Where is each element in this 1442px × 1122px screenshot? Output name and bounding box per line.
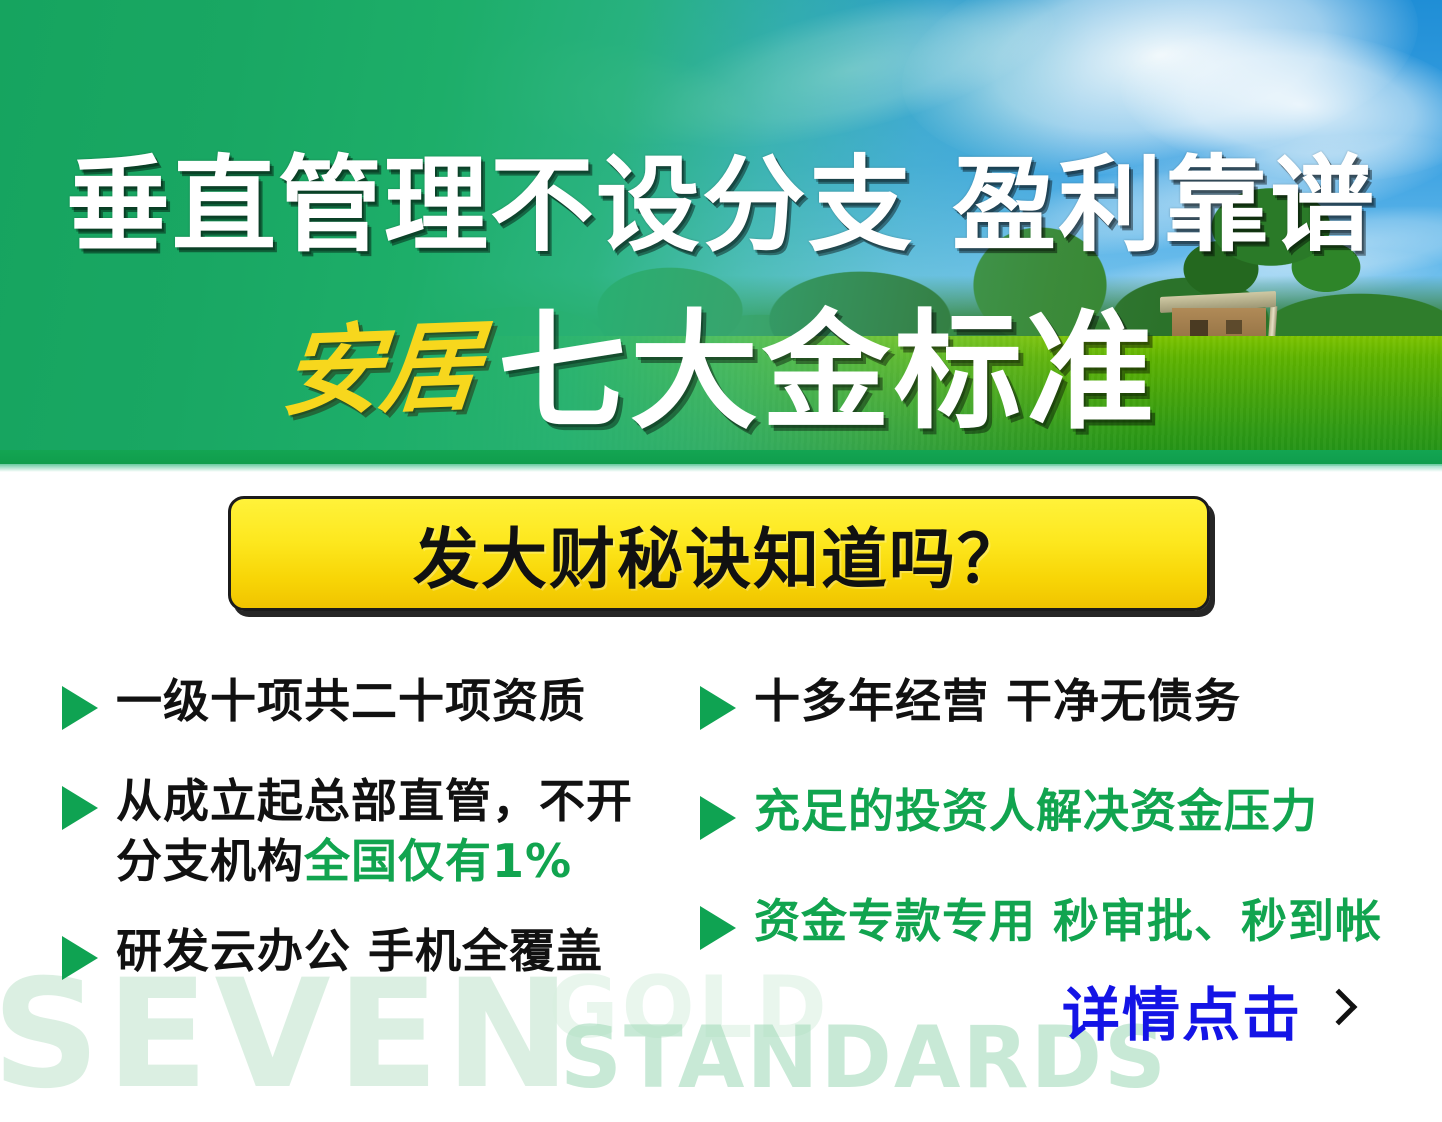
- feature-line-2-row: 分支机构全国仅有1%: [116, 832, 633, 892]
- hero-banner: 垂直管理不设分支 盈利靠谱 安居 七大金标准: [0, 0, 1442, 472]
- feature-text: 从成立起总部直管，不开 分支机构全国仅有1%: [116, 772, 633, 892]
- feature-line-1: 十多年经营 干净无债务: [754, 674, 1241, 728]
- feature-line-2: 分支机构: [116, 834, 304, 888]
- hero-headline-top: 垂直管理不设分支 盈利靠谱: [0, 120, 1442, 271]
- feature-line-1: 从成立起总部直管，不开: [116, 774, 633, 828]
- triangle-bullet-icon: [700, 686, 736, 730]
- hero-bottom-fade: [0, 464, 1442, 472]
- feature-item: 资金专款专用 秒审批、秒到帐: [700, 892, 1382, 952]
- features-section: 一级十项共二十项资质 从成立起总部直管，不开 分支机构全国仅有1% 研发云办公 …: [0, 650, 1442, 1010]
- feature-text: 资金专款专用 秒审批、秒到帐: [754, 892, 1382, 952]
- detail-link[interactable]: 详情点击: [1062, 968, 1352, 1052]
- feature-line-1: 资金专款专用 秒审批、秒到帐: [754, 894, 1382, 948]
- feature-highlight: 全国仅有1%: [304, 834, 572, 888]
- triangle-bullet-icon: [700, 796, 736, 840]
- feature-item: 十多年经营 干净无债务: [700, 672, 1241, 732]
- feature-text: 充足的投资人解决资金压力: [754, 782, 1318, 842]
- feature-text: 研发云办公 手机全覆盖: [116, 922, 603, 982]
- feature-item: 研发云办公 手机全覆盖: [62, 922, 603, 982]
- chevron-right-icon: [1321, 989, 1358, 1026]
- hero-headline-main: 七大金标准: [498, 268, 1158, 453]
- promo-banner-text: 发大财秘诀知道吗？: [413, 506, 1025, 602]
- triangle-bullet-icon: [700, 906, 736, 950]
- detail-link-label: 详情点击: [1062, 968, 1302, 1052]
- triangle-bullet-icon: [62, 686, 98, 730]
- feature-item: 从成立起总部直管，不开 分支机构全国仅有1%: [62, 772, 633, 892]
- hero-headline-main-row: 安居 七大金标准: [0, 268, 1442, 453]
- triangle-bullet-icon: [62, 936, 98, 980]
- triangle-bullet-icon: [62, 786, 98, 830]
- feature-text: 十多年经营 干净无债务: [754, 672, 1241, 732]
- feature-item: 一级十项共二十项资质: [62, 672, 586, 732]
- feature-item: 充足的投资人解决资金压力: [700, 782, 1318, 842]
- feature-line-1: 充足的投资人解决资金压力: [754, 784, 1318, 838]
- brand-word: 安居: [277, 286, 500, 435]
- feature-line-1: 一级十项共二十项资质: [116, 674, 586, 728]
- feature-line-1: 研发云办公 手机全覆盖: [116, 924, 603, 978]
- feature-text: 一级十项共二十项资质: [116, 672, 586, 732]
- promo-banner-button[interactable]: 发大财秘诀知道吗？: [228, 496, 1210, 611]
